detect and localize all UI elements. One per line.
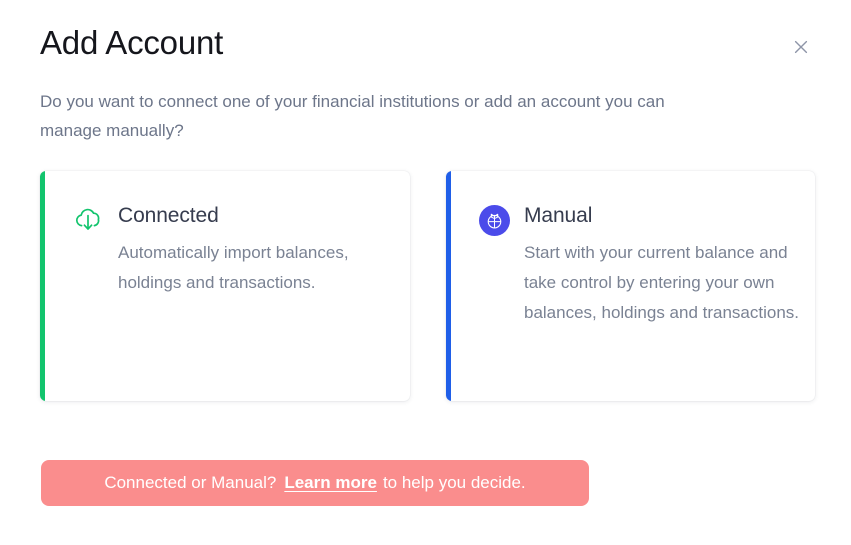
banner-lead-text: Connected or Manual? xyxy=(104,473,276,492)
option-heading-connected: Connected xyxy=(118,171,394,229)
add-account-dialog: Add Account Do you want to connect one o… xyxy=(0,0,851,545)
close-icon xyxy=(793,39,809,55)
banner-text: Connected or Manual?Learn moreto help yo… xyxy=(104,473,525,493)
option-description-connected: Automatically import balances, holdings … xyxy=(118,229,394,298)
banner-trail-text: to help you decide. xyxy=(383,473,526,492)
pie-chart-badge xyxy=(479,205,510,236)
close-button[interactable] xyxy=(787,33,815,61)
page-title: Add Account xyxy=(40,22,223,64)
dialog-subtitle: Do you want to connect one of your finan… xyxy=(40,87,680,145)
card-inner-manual: Manual Start with your current balance a… xyxy=(451,171,815,401)
cloud-download-icon xyxy=(71,203,105,237)
option-heading-manual: Manual xyxy=(524,171,799,229)
pie-chart-icon xyxy=(477,203,511,237)
option-description-manual: Start with your current balance and take… xyxy=(524,229,799,328)
card-body-connected: Connected Automatically import balances,… xyxy=(118,171,394,298)
card-body-manual: Manual Start with your current balance a… xyxy=(524,171,799,328)
option-card-manual[interactable]: Manual Start with your current balance a… xyxy=(446,171,815,401)
learn-more-banner[interactable]: Connected or Manual?Learn moreto help yo… xyxy=(41,460,589,506)
card-inner-connected: Connected Automatically import balances,… xyxy=(45,171,410,401)
option-card-connected[interactable]: Connected Automatically import balances,… xyxy=(40,171,410,401)
learn-more-link[interactable]: Learn more xyxy=(284,473,377,492)
account-type-options: Connected Automatically import balances,… xyxy=(40,171,815,401)
